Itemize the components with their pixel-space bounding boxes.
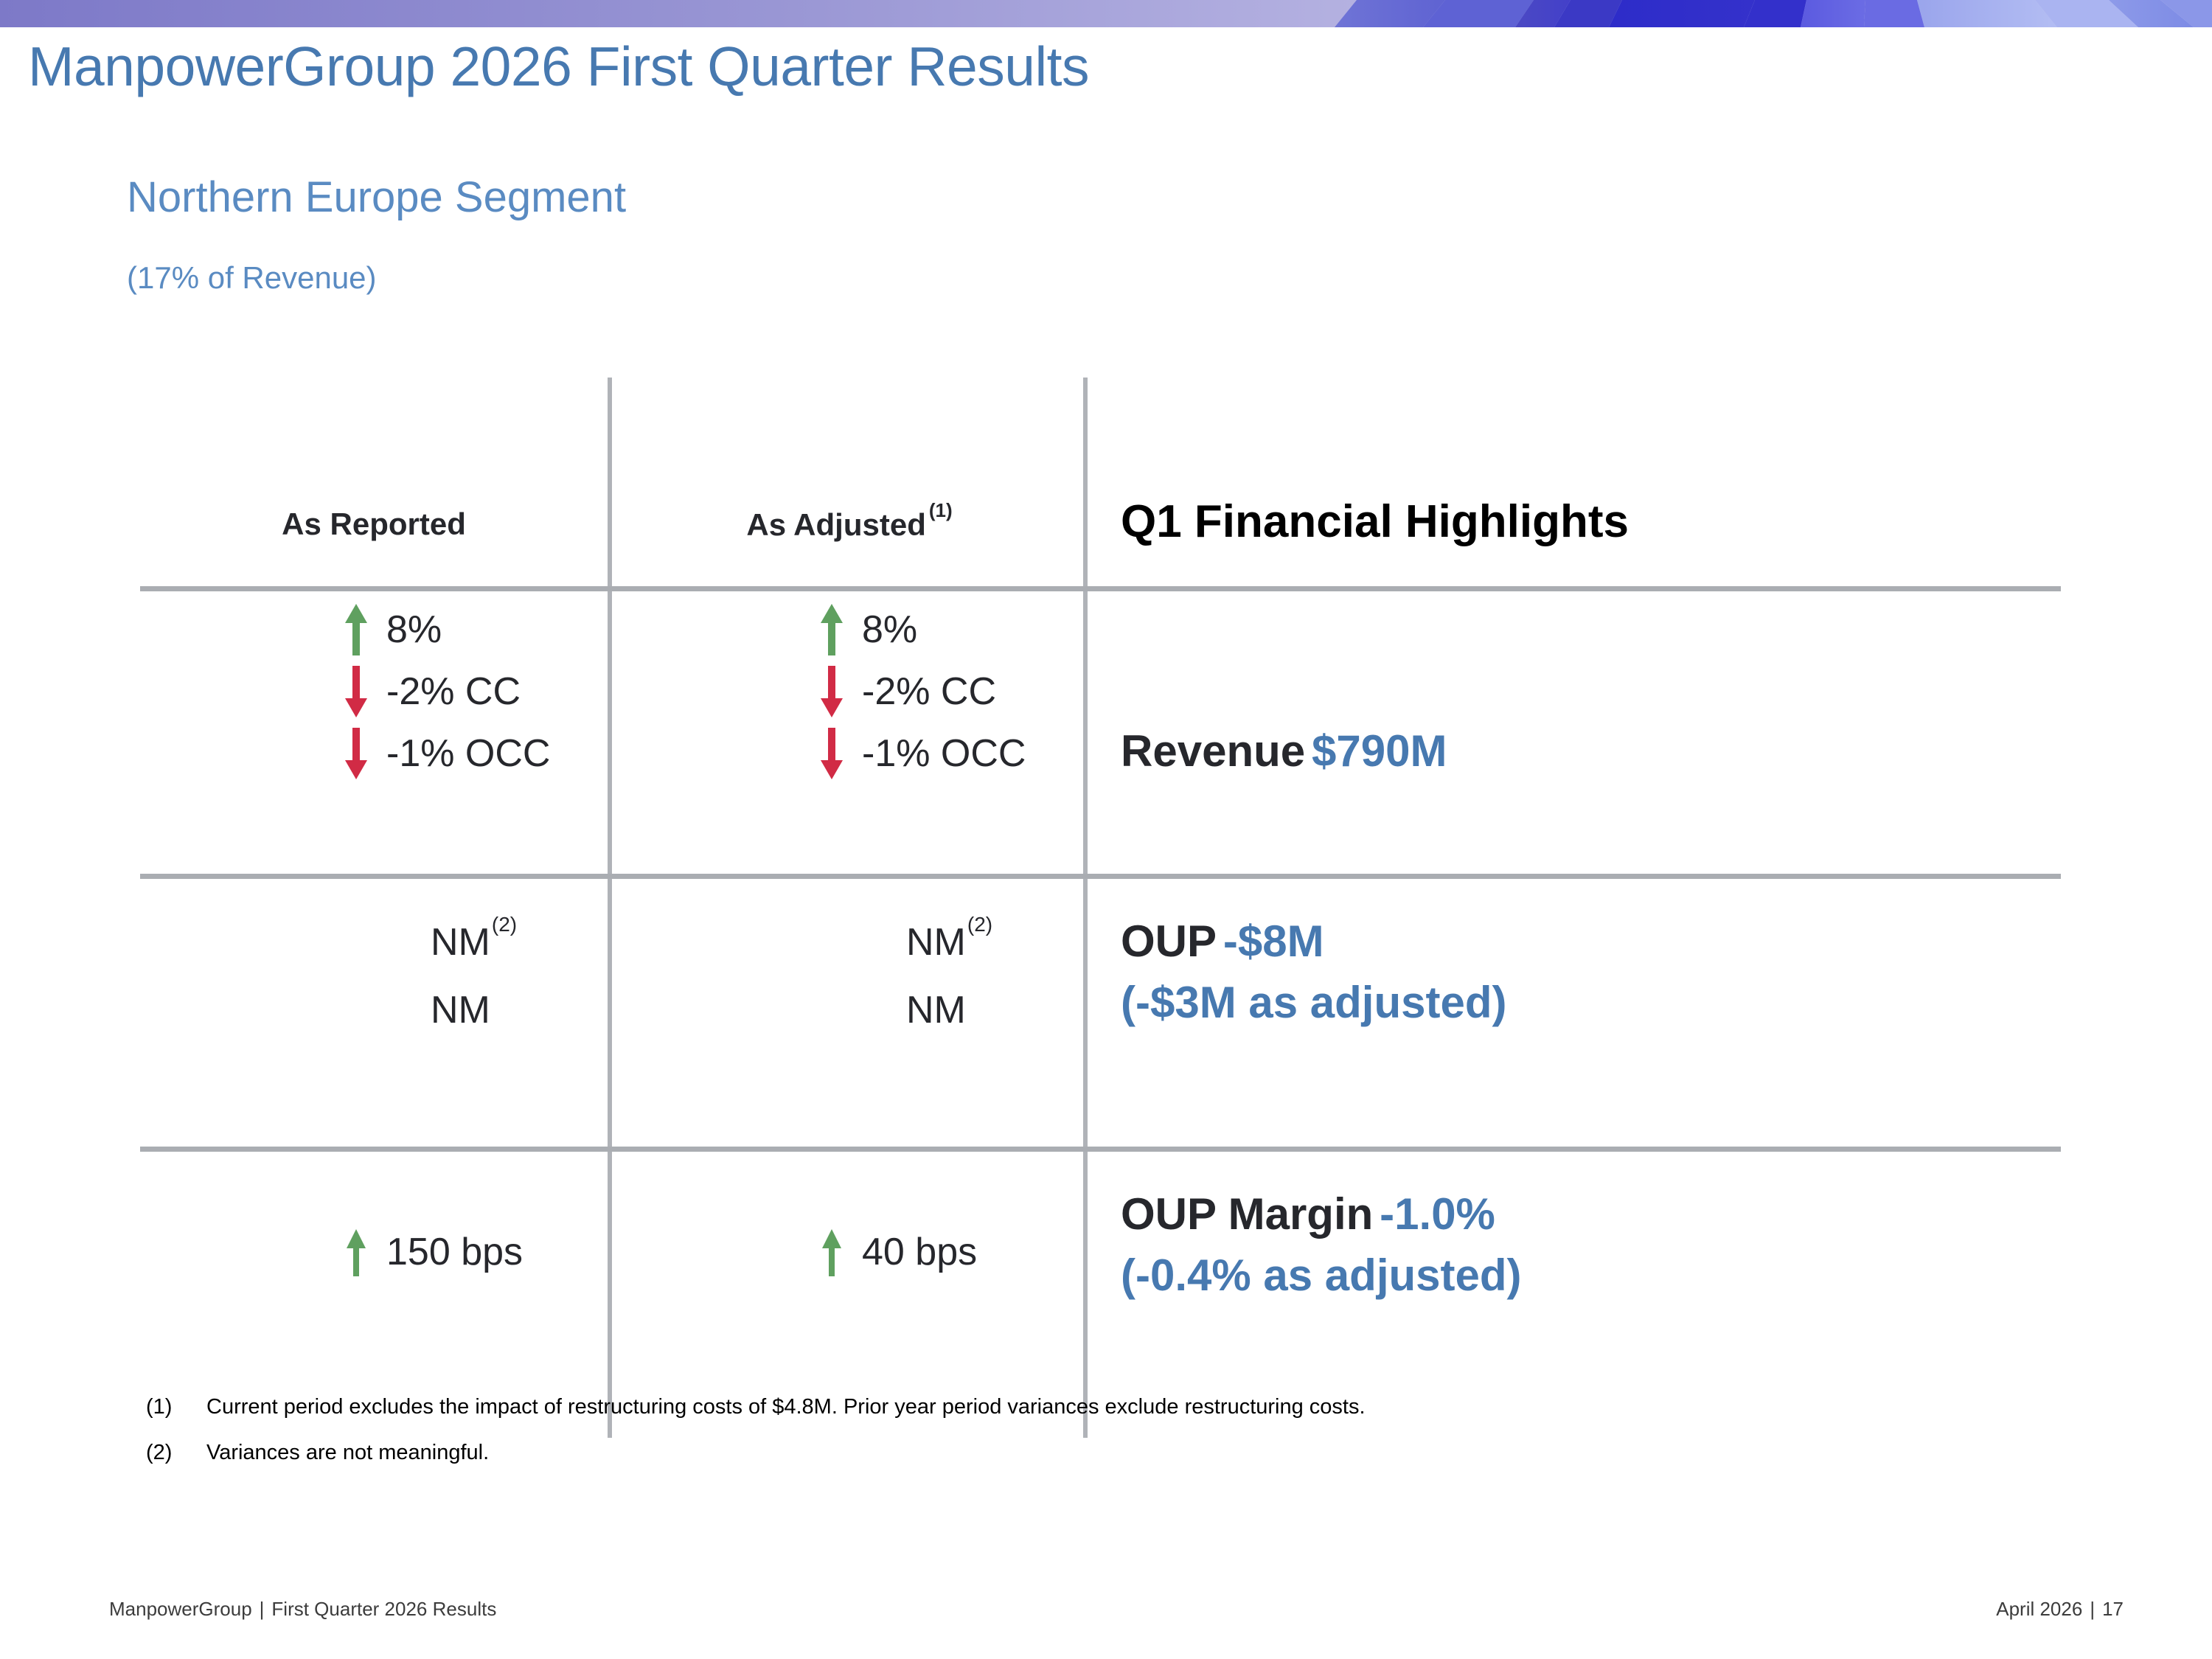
- arrow-down-icon: [344, 663, 369, 720]
- variance-value: 8%: [386, 608, 608, 652]
- cell-as-reported-oup: NM(2) NM: [140, 908, 608, 1044]
- segment-title: Northern Europe Segment: [127, 173, 626, 222]
- variance-value: -2% CC: [386, 669, 608, 714]
- footer-page-number: 17: [2102, 1598, 2124, 1620]
- variance-value: -2% CC: [862, 669, 1083, 714]
- arrow-up-icon: [819, 601, 844, 658]
- variance-line: 150 bps: [140, 1218, 608, 1286]
- footnote-2-marker: (2): [146, 1439, 206, 1466]
- variance-value: NM(2): [906, 920, 1083, 964]
- variance-line: -2% CC: [140, 661, 608, 723]
- footer-right: April 2026|17: [1996, 1598, 2124, 1621]
- variance-line: NM(2): [616, 908, 1083, 976]
- footnote-marker-1: (1): [929, 499, 953, 521]
- variance-line: 40 bps: [616, 1218, 1083, 1286]
- footer-company: ManpowerGroup: [109, 1598, 252, 1620]
- footer-separator: |: [252, 1598, 272, 1620]
- table-row-rule-1: [140, 874, 2061, 879]
- footnote-1: (1) Current period excludes the impact o…: [146, 1394, 1989, 1420]
- footnote-marker-2: (2): [492, 913, 517, 936]
- decorative-header-band: [0, 0, 2212, 27]
- footnote-marker-2: (2): [967, 913, 992, 936]
- variance-value: -1% OCC: [386, 731, 608, 776]
- column-header-highlights: Q1 Financial Highlights: [1121, 495, 1629, 548]
- no-arrow-spacer: [863, 981, 888, 1039]
- segment-subtitle: (17% of Revenue): [127, 260, 377, 296]
- footer-left: ManpowerGroup|First Quarter 2026 Results: [109, 1598, 496, 1621]
- arrow-down-icon: [344, 725, 369, 782]
- cell-as-reported-revenue: 8% -2% CC -1% OCC: [140, 599, 608, 785]
- highlight-oup-margin-value: -1.0%: [1380, 1189, 1495, 1239]
- footnote-1-marker: (1): [146, 1394, 206, 1420]
- highlight-oup-label: OUP: [1121, 917, 1217, 966]
- footer-date: April 2026: [1996, 1598, 2082, 1620]
- arrow-down-icon: [819, 663, 844, 720]
- variance-line: 8%: [616, 599, 1083, 661]
- cell-as-reported-oup-margin: 150 bps: [140, 1218, 608, 1286]
- no-arrow-spacer: [388, 981, 413, 1039]
- highlight-oup-adjusted: (-$3M as adjusted): [1121, 977, 1506, 1028]
- variance-line: -2% CC: [616, 661, 1083, 723]
- variance-line: 8%: [140, 599, 608, 661]
- variance-text: NM: [906, 921, 966, 964]
- arrow-up-icon: [344, 601, 369, 658]
- variance-line: NM: [616, 976, 1083, 1044]
- table-header-rule: [140, 586, 2061, 591]
- highlight-revenue: Revenue $790M: [1121, 726, 1447, 776]
- footnote-1-text: Current period excludes the impact of re…: [206, 1394, 1366, 1420]
- cell-as-adjusted-revenue: 8% -2% CC -1% OCC: [616, 599, 1083, 785]
- arrow-up-icon: [344, 1223, 369, 1281]
- variance-line: -1% OCC: [616, 723, 1083, 785]
- highlight-oup: OUP -$8M (-$3M as adjusted): [1121, 916, 1506, 1028]
- column-header-as-reported-label: As Reported: [282, 507, 466, 541]
- table-row-rule-2: [140, 1147, 2061, 1152]
- highlight-revenue-value: $790M: [1312, 726, 1447, 776]
- highlight-oup-margin-adjusted: (-0.4% as adjusted): [1121, 1250, 1522, 1301]
- financial-highlights-table: As Reported As Adjusted(1) Q1 Financial …: [140, 378, 2065, 1439]
- variance-value: NM: [906, 988, 1083, 1032]
- no-arrow-spacer: [863, 914, 888, 971]
- footnote-2: (2) Variances are not meaningful.: [146, 1439, 1989, 1466]
- footnote-2-text: Variances are not meaningful.: [206, 1439, 489, 1466]
- variance-value: 8%: [862, 608, 1083, 652]
- cell-as-adjusted-oup: NM(2) NM: [616, 908, 1083, 1044]
- column-header-as-reported: As Reported: [140, 507, 608, 542]
- deck-title: ManpowerGroup 2026 First Quarter Results: [28, 35, 1089, 97]
- variance-value: NM(2): [431, 920, 608, 964]
- footnotes: (1) Current period excludes the impact o…: [146, 1394, 1989, 1485]
- variance-value: 150 bps: [386, 1230, 608, 1274]
- variance-line: NM: [140, 976, 608, 1044]
- variance-line: -1% OCC: [140, 723, 608, 785]
- variance-line: NM(2): [140, 908, 608, 976]
- column-header-as-adjusted-label: As Adjusted: [746, 507, 925, 542]
- footer-separator: |: [2082, 1598, 2102, 1620]
- variance-text: NM: [431, 921, 490, 964]
- highlight-revenue-label: Revenue: [1121, 726, 1305, 776]
- highlight-oup-margin: OUP Margin -1.0% (-0.4% as adjusted): [1121, 1189, 1522, 1301]
- arrow-up-icon: [819, 1223, 844, 1281]
- variance-value: NM: [431, 988, 608, 1032]
- arrow-down-icon: [819, 725, 844, 782]
- column-header-as-adjusted: As Adjusted(1): [612, 507, 1084, 543]
- variance-value: 40 bps: [862, 1230, 1083, 1274]
- highlight-oup-value: -$8M: [1223, 917, 1324, 966]
- footer-report: First Quarter 2026 Results: [271, 1598, 496, 1620]
- variance-value: -1% OCC: [862, 731, 1083, 776]
- cell-as-adjusted-oup-margin: 40 bps: [616, 1218, 1083, 1286]
- highlight-oup-margin-label: OUP Margin: [1121, 1189, 1373, 1239]
- no-arrow-spacer: [388, 914, 413, 971]
